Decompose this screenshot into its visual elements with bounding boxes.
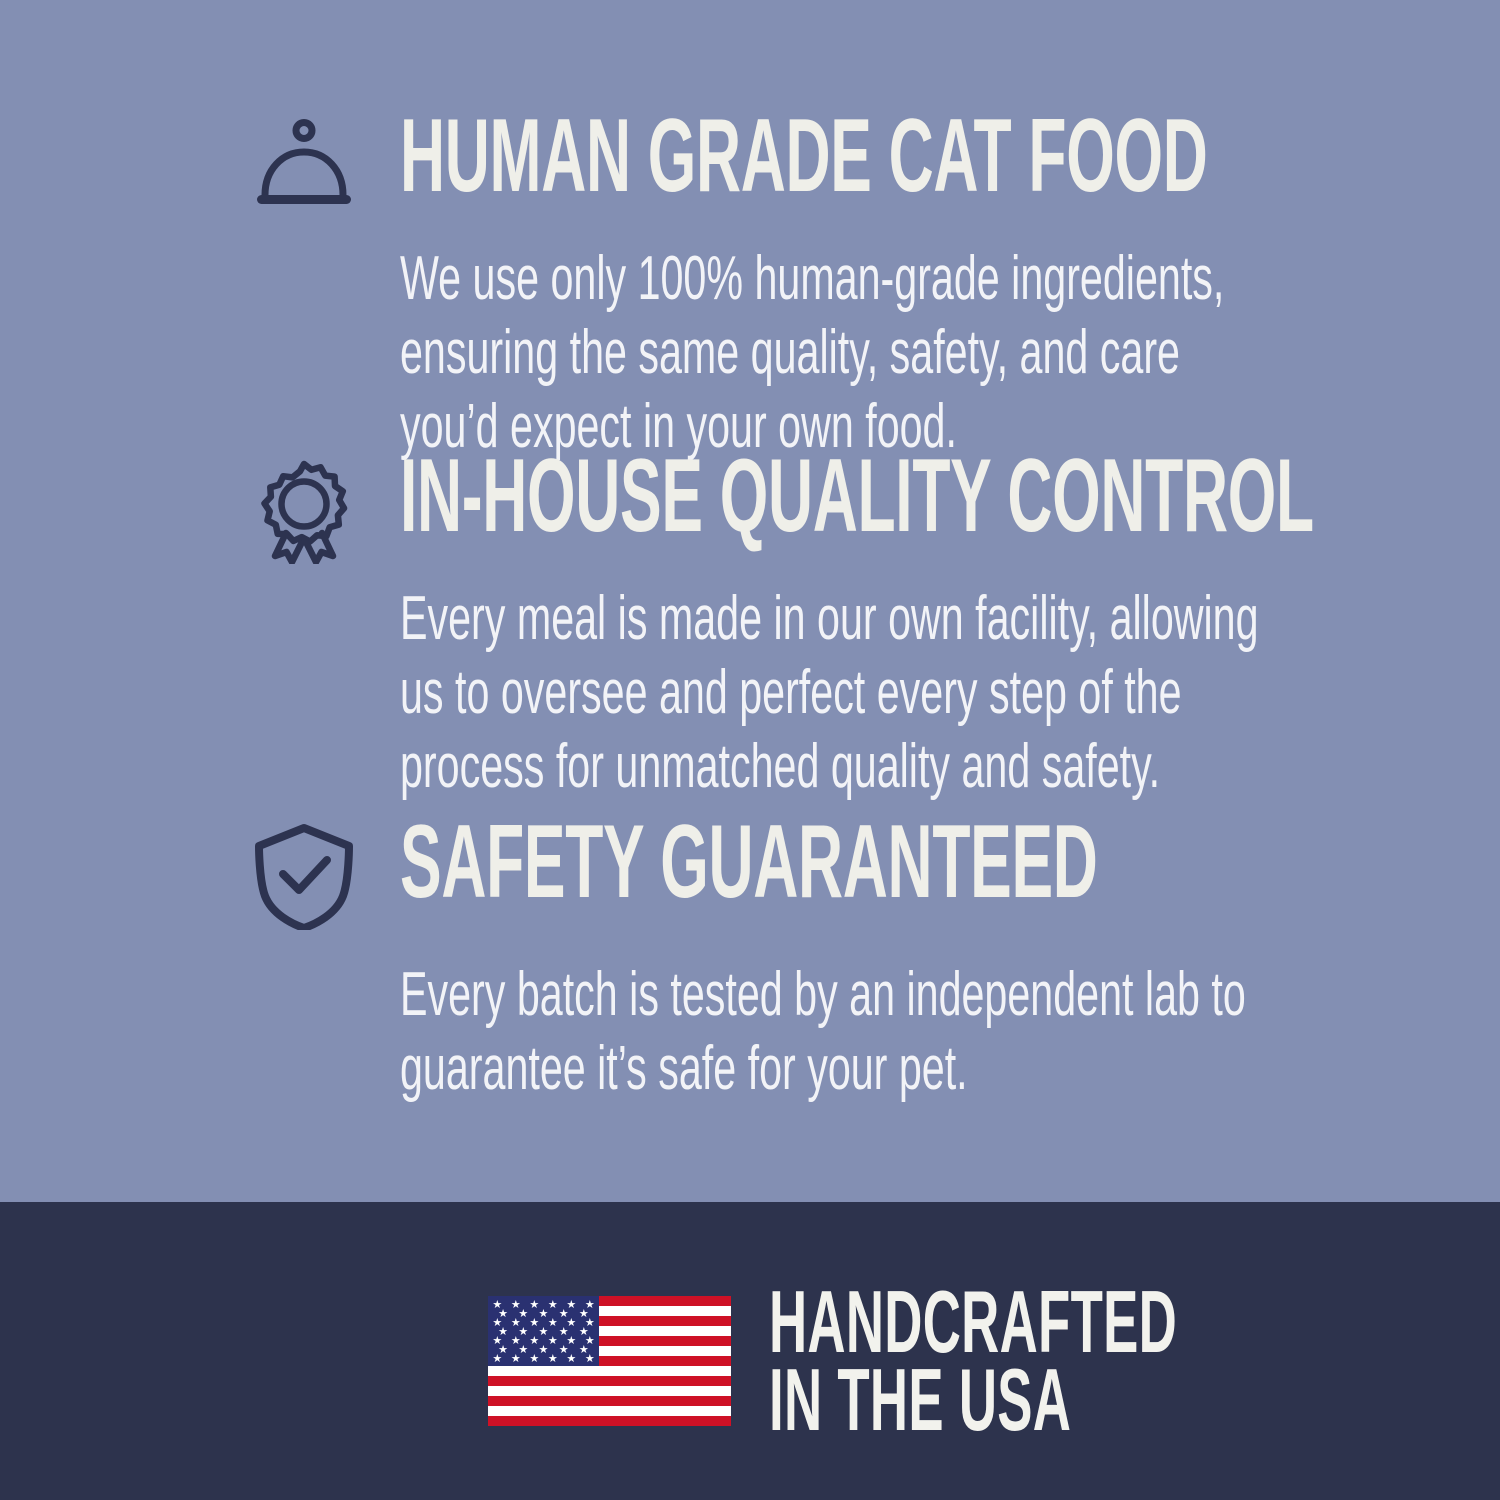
- feature-list: HUMAN GRADE CAT FOOD We use only 100% hu…: [0, 0, 1500, 1202]
- feature-header: IN-HOUSE QUALITY CONTROL: [248, 452, 1248, 556]
- feature-description: Every batch is tested by an independent …: [400, 958, 1278, 1106]
- flag-canton: ★★★★★★ ★★★★★ ★★★★★★ ★★★★★ ★★★★★★ ★★★★★ ★…: [488, 1296, 599, 1366]
- footer-banner: ★★★★★★ ★★★★★ ★★★★★★ ★★★★★ ★★★★★★ ★★★★★ ★…: [0, 1202, 1500, 1500]
- feature-description: We use only 100% human-grade ingredients…: [400, 242, 1278, 464]
- feature-header: SAFETY GUARANTEED: [248, 818, 1248, 922]
- feature-header: HUMAN GRADE CAT FOOD: [248, 112, 1248, 216]
- footer-tagline: HANDCRAFTED IN THE USA: [769, 1283, 1177, 1439]
- feature-title: IN-HOUSE QUALITY CONTROL: [400, 444, 1314, 548]
- footer-content: ★★★★★★ ★★★★★ ★★★★★★ ★★★★★ ★★★★★★ ★★★★★ ★…: [488, 1283, 1449, 1439]
- feature-item-in-house-quality-control: IN-HOUSE QUALITY CONTROL Every meal is m…: [248, 452, 1248, 556]
- feature-item-human-grade-cat-food: HUMAN GRADE CAT FOOD We use only 100% hu…: [248, 112, 1248, 216]
- cloche-dome-icon: [248, 112, 360, 224]
- usa-flag-icon: ★★★★★★ ★★★★★ ★★★★★★ ★★★★★ ★★★★★★ ★★★★★ ★…: [488, 1296, 731, 1426]
- shield-check-icon: [248, 818, 360, 930]
- feature-title: HUMAN GRADE CAT FOOD: [400, 104, 1207, 208]
- feature-title: SAFETY GUARANTEED: [400, 810, 1098, 914]
- feature-item-safety-guaranteed: SAFETY GUARANTEED Every batch is tested …: [248, 818, 1248, 922]
- infographic-page: HUMAN GRADE CAT FOOD We use only 100% hu…: [0, 0, 1500, 1500]
- footer-tagline-line-2: IN THE USA: [769, 1361, 1177, 1439]
- feature-description: Every meal is made in our own facility, …: [400, 582, 1278, 804]
- award-rosette-icon: [248, 452, 360, 564]
